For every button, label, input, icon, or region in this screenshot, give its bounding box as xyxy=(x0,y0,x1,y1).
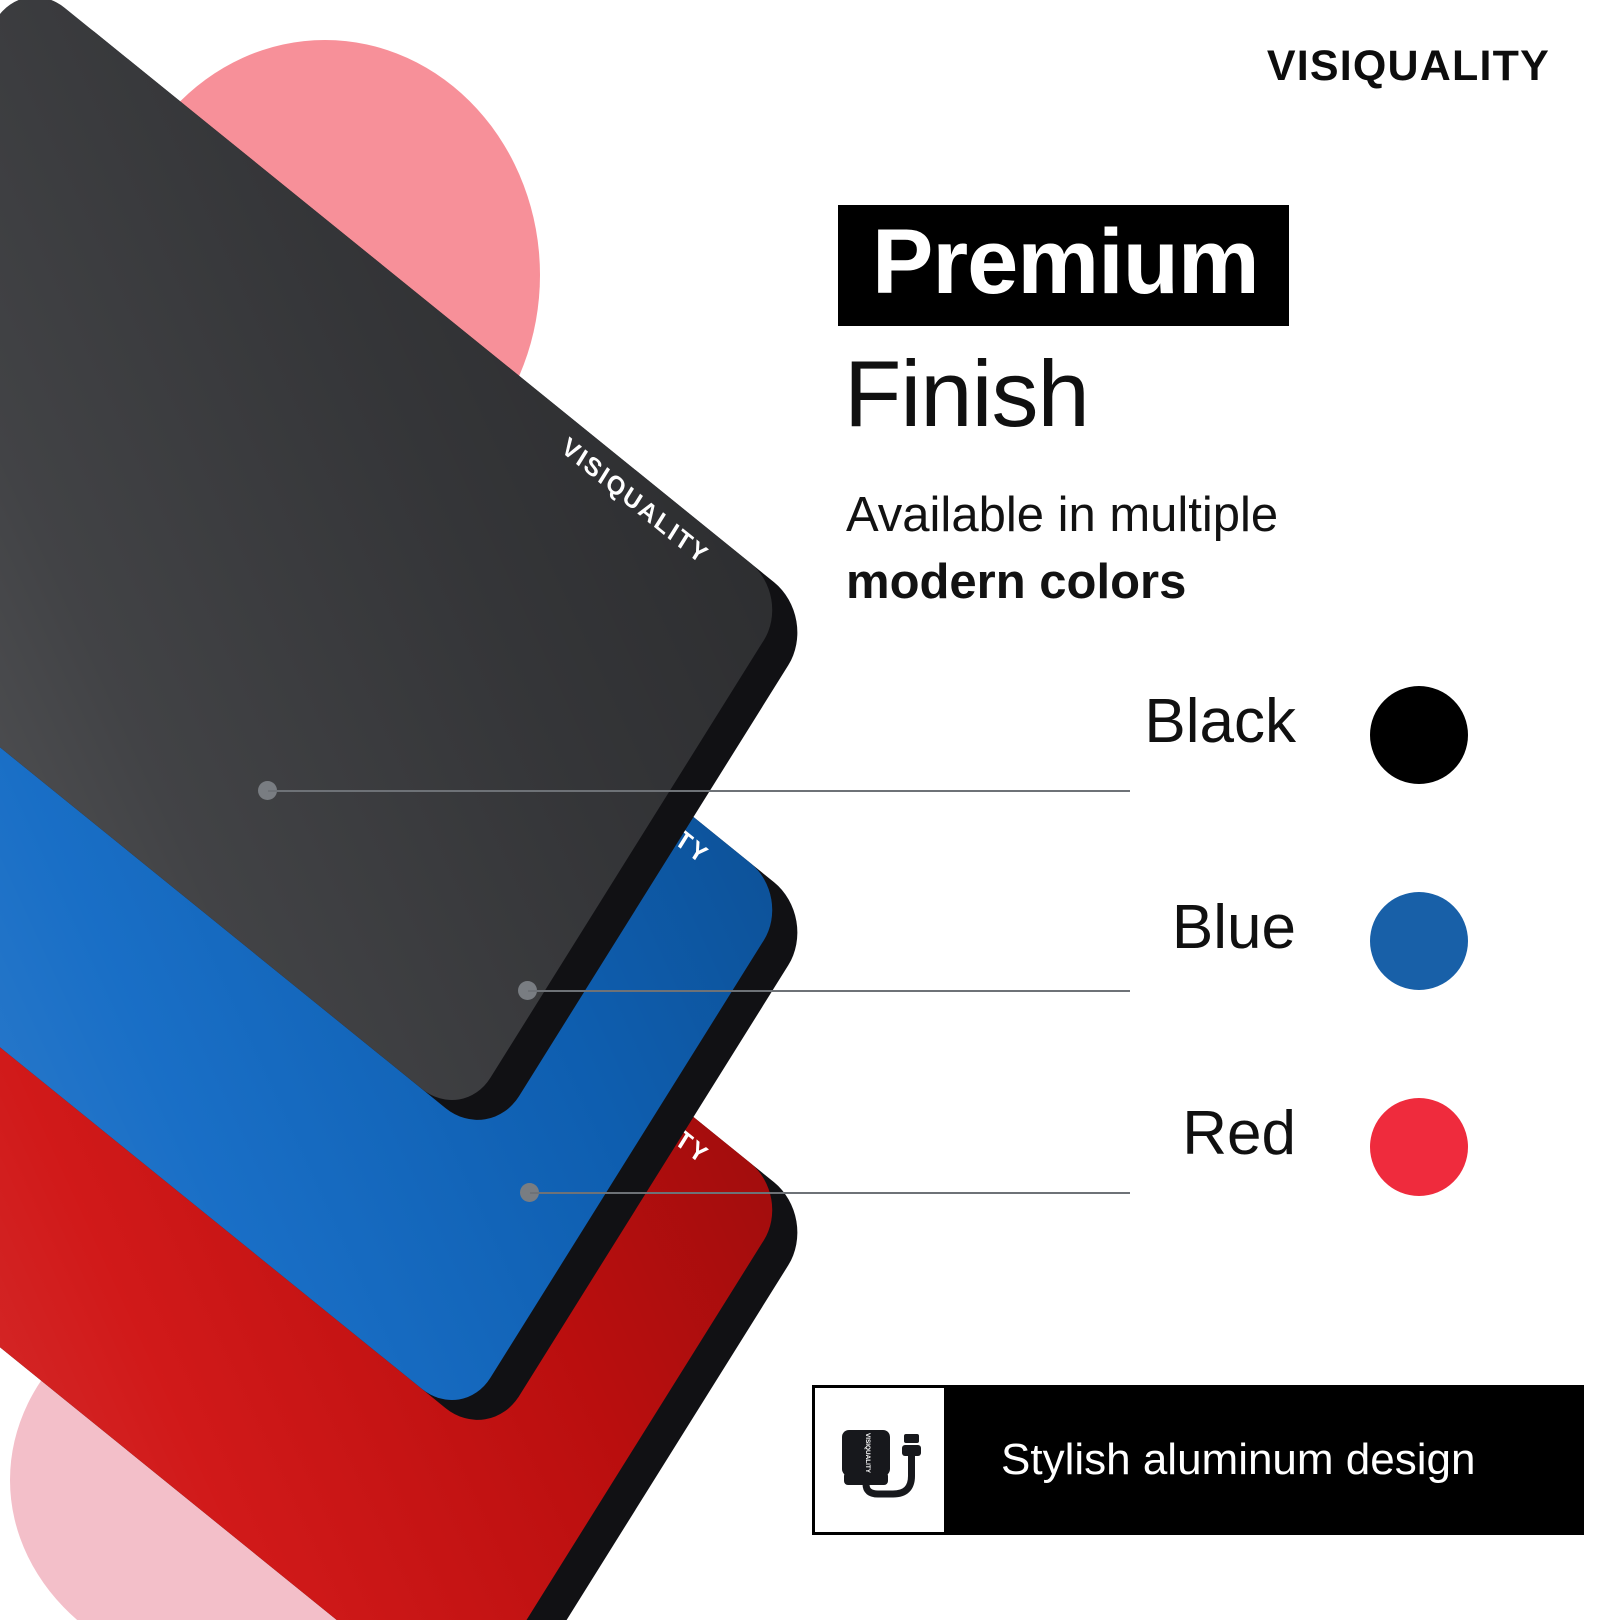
banner-text: Stylish aluminum design xyxy=(947,1388,1581,1532)
color-swatch-red[interactable] xyxy=(1370,1098,1468,1196)
color-swatch-black[interactable] xyxy=(1370,686,1468,784)
color-option-blue[interactable]: Blue xyxy=(828,882,1588,1002)
icon-brand-label: VISIQUALITY xyxy=(864,1433,871,1474)
subtitle: Available in multiple modern colors xyxy=(846,482,1466,615)
color-label-red: Red xyxy=(1182,1098,1296,1169)
content-column: VISIQUALITY Premium Finish Available in … xyxy=(828,0,1588,1620)
hard-drive-with-cable-icon: VISIQUALITY xyxy=(830,1410,930,1510)
brand-logo: VISIQUALITY xyxy=(1267,42,1550,91)
color-option-red[interactable]: Red xyxy=(828,1088,1588,1208)
color-label-black: Black xyxy=(1144,686,1296,757)
color-swatch-blue[interactable] xyxy=(1370,892,1468,990)
infographic-canvas: VISIQUALITY VISIQUALITY VI xyxy=(0,0,1620,1620)
color-label-blue: Blue xyxy=(1172,892,1296,963)
color-option-black[interactable]: Black xyxy=(828,676,1588,796)
subtitle-line-2: modern colors xyxy=(846,555,1186,609)
product-stack: VISIQUALITY VISIQUALITY VI xyxy=(0,20,780,1580)
page-title-highlight: Premium xyxy=(838,205,1289,326)
page-title-subline: Finish xyxy=(844,340,1089,448)
subtitle-line-1: Available in multiple xyxy=(846,488,1278,542)
feature-banner: VISIQUALITY Stylish aluminum design xyxy=(812,1385,1584,1535)
banner-icon-box: VISIQUALITY xyxy=(815,1388,947,1532)
